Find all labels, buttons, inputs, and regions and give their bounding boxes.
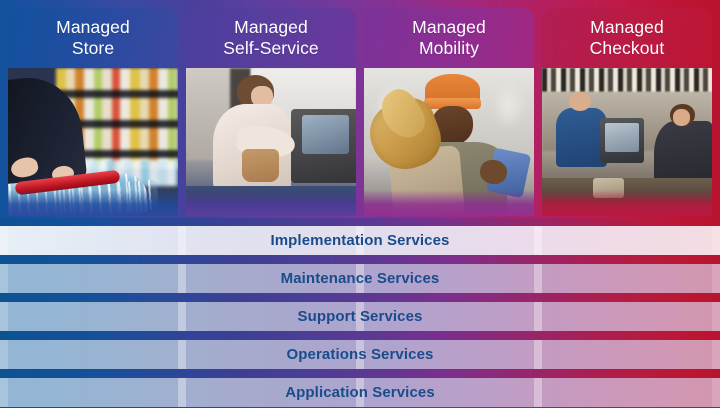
left-edge-overlay bbox=[0, 340, 8, 369]
left-edge-overlay bbox=[0, 226, 8, 255]
card-header-managed-checkout: Managed Checkout bbox=[542, 8, 712, 68]
card-photo-managed-checkout bbox=[542, 68, 712, 216]
left-edge-overlay bbox=[0, 264, 8, 293]
card-title-managed-self-service: Managed Self-Service bbox=[223, 17, 319, 59]
card-photo-managed-mobility bbox=[364, 68, 534, 216]
card-managed-checkout[interactable]: Managed Checkout bbox=[542, 8, 712, 216]
service-separator bbox=[0, 293, 720, 302]
card-title-line2: Checkout bbox=[590, 38, 665, 58]
right-edge-overlay bbox=[712, 226, 720, 255]
card-title-managed-mobility: Managed Mobility bbox=[412, 17, 486, 59]
service-separator bbox=[0, 255, 720, 264]
service-label: Application Services bbox=[285, 384, 435, 401]
service-separator bbox=[0, 218, 720, 226]
right-edge-overlay bbox=[712, 378, 720, 407]
right-edge-overlay bbox=[712, 340, 720, 369]
card-photo-managed-self-service bbox=[186, 68, 356, 216]
service-separator bbox=[0, 331, 720, 340]
service-bar-maintenance-services[interactable]: Maintenance Services bbox=[0, 264, 720, 293]
card-header-managed-self-service: Managed Self-Service bbox=[186, 8, 356, 68]
card-title-line1: Managed bbox=[590, 17, 664, 37]
managed-services-card-row: Managed Store Managed S bbox=[0, 0, 720, 218]
service-layers-stack: Implementation Services Maintenance Serv… bbox=[0, 218, 720, 408]
card-header-managed-mobility: Managed Mobility bbox=[364, 8, 534, 68]
card-title-managed-checkout: Managed Checkout bbox=[590, 17, 665, 59]
card-managed-self-service[interactable]: Managed Self-Service bbox=[186, 8, 356, 216]
left-edge-overlay bbox=[0, 302, 8, 331]
right-edge-overlay bbox=[712, 302, 720, 331]
service-bar-support-services[interactable]: Support Services bbox=[0, 302, 720, 331]
card-title-line2: Store bbox=[72, 38, 114, 58]
service-label: Operations Services bbox=[287, 346, 434, 363]
card-header-managed-store: Managed Store bbox=[8, 8, 178, 68]
right-edge-overlay bbox=[712, 264, 720, 293]
service-bar-operations-services[interactable]: Operations Services bbox=[0, 340, 720, 369]
service-label: Implementation Services bbox=[270, 232, 449, 249]
card-title-line1: Managed bbox=[234, 17, 308, 37]
card-photo-managed-store bbox=[8, 68, 178, 216]
service-bar-implementation-services[interactable]: Implementation Services bbox=[0, 226, 720, 255]
card-managed-mobility[interactable]: Managed Mobility bbox=[364, 8, 534, 216]
card-managed-store[interactable]: Managed Store bbox=[8, 8, 178, 216]
diagram-canvas: Managed Store Managed S bbox=[0, 0, 720, 408]
service-separator bbox=[0, 369, 720, 378]
service-bar-application-services[interactable]: Application Services bbox=[0, 378, 720, 407]
card-title-line2: Self-Service bbox=[223, 38, 319, 58]
service-label: Maintenance Services bbox=[281, 270, 440, 287]
service-label: Support Services bbox=[298, 308, 423, 325]
card-title-line2: Mobility bbox=[419, 38, 479, 58]
card-title-line1: Managed bbox=[412, 17, 486, 37]
card-title-line1: Managed bbox=[56, 17, 130, 37]
card-title-managed-store: Managed Store bbox=[56, 17, 130, 59]
left-edge-overlay bbox=[0, 378, 8, 407]
